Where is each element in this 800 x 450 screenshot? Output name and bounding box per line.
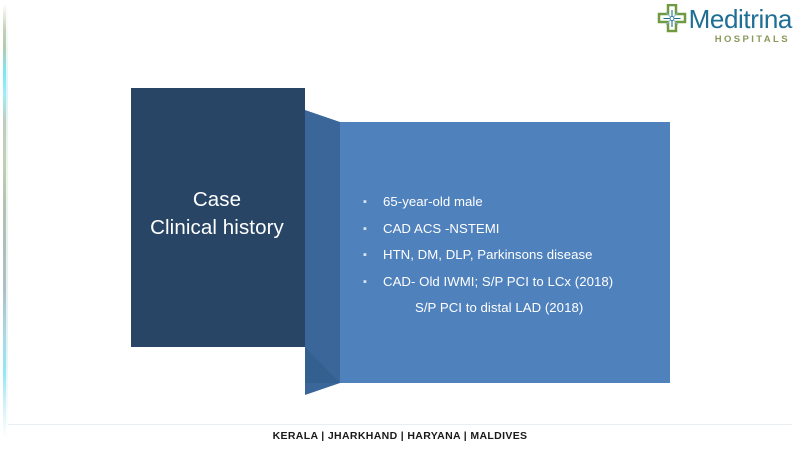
medical-cross-icon bbox=[657, 4, 687, 33]
list-item-continuation: S/P PCI to distal LAD (2018) bbox=[415, 298, 660, 318]
list-item-label: CAD- Old IWMI; S/P PCI to LCx (2018) bbox=[383, 272, 613, 292]
logo-row: Meditrina bbox=[657, 4, 792, 33]
logo-wordmark: Meditrina bbox=[689, 6, 792, 32]
list-item-label: CAD ACS -NSTEMI bbox=[383, 219, 500, 239]
slide-title-line-1: Case bbox=[131, 186, 303, 214]
brand-logo: Meditrina HOSPITALS bbox=[657, 4, 792, 45]
list-item: ▪ CAD ACS -NSTEMI bbox=[360, 219, 660, 239]
ribbon-fold bbox=[305, 110, 340, 395]
footer-divider bbox=[8, 424, 792, 425]
list-item: ▪ CAD- Old IWMI; S/P PCI to LCx (2018) bbox=[360, 272, 660, 292]
bullet-marker-icon: ▪ bbox=[360, 219, 383, 239]
logo-subtitle: HOSPITALS bbox=[715, 34, 790, 45]
left-accent-strip-secondary bbox=[6, 4, 8, 438]
list-item-label: 65-year-old male bbox=[383, 192, 483, 212]
list-item: ▪ 65-year-old male bbox=[360, 192, 660, 212]
slide-title-line-2: Clinical history bbox=[131, 214, 303, 242]
bullet-marker-icon: ▪ bbox=[360, 192, 383, 212]
list-item: ▪ HTN, DM, DLP, Parkinsons disease bbox=[360, 245, 660, 265]
footer-locations: KERALA | JHARKHAND | HARYANA | MALDIVES bbox=[0, 430, 800, 442]
slide-title: Case Clinical history bbox=[131, 186, 303, 242]
bullet-marker-icon: ▪ bbox=[360, 272, 383, 292]
ribbon-fold-notch bbox=[305, 347, 340, 383]
bullet-list: ▪ 65-year-old male ▪ CAD ACS -NSTEMI ▪ H… bbox=[360, 192, 660, 318]
bullet-marker-icon: ▪ bbox=[360, 245, 383, 265]
list-item-label: HTN, DM, DLP, Parkinsons disease bbox=[383, 245, 593, 265]
